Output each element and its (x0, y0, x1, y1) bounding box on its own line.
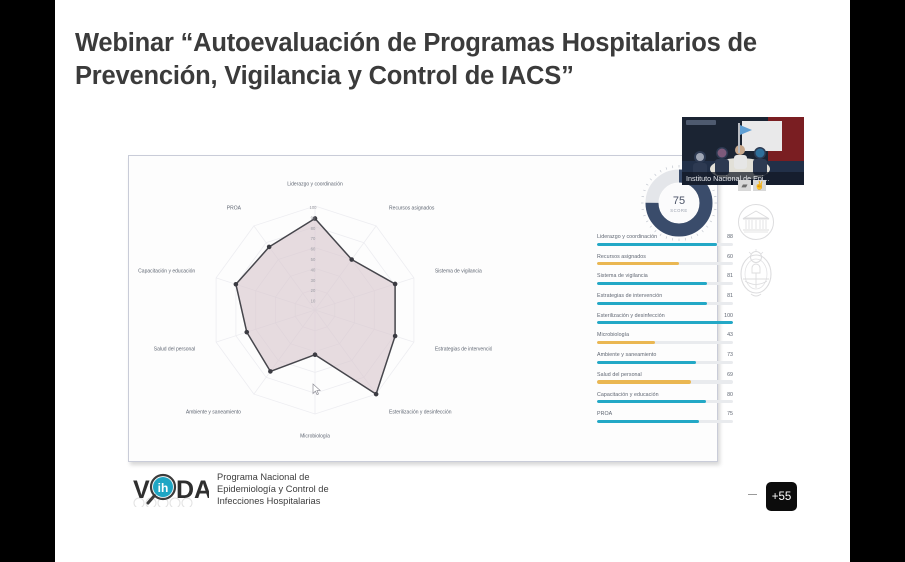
radar-data-point (313, 352, 318, 357)
score-row: PROA75 (597, 411, 733, 423)
gauge-value: 75 (673, 195, 685, 207)
score-progress-track (597, 321, 733, 324)
score-progress-track (597, 341, 733, 344)
radar-axis-label: Estrategias de intervención (435, 347, 492, 353)
score-row-header: Microbiología43 (597, 332, 733, 338)
radar-axis-label: PROA (227, 206, 242, 212)
overflow-participants-badge[interactable]: +55 (766, 482, 797, 511)
radar-data-point (268, 369, 273, 374)
presentation-slide: Webinar “Autoevaluación de Programas Hos… (55, 0, 850, 562)
svg-text:DA: DA (176, 476, 209, 504)
radar-tick-label: 40 (311, 267, 316, 272)
score-progress-fill (597, 361, 696, 364)
page-title: Webinar “Autoevaluación de Programas Hos… (75, 27, 820, 93)
score-progress-fill (597, 282, 707, 285)
radar-tick-label: 70 (311, 236, 316, 241)
score-list: Liderazgo y coordinación88Recursos asign… (597, 234, 733, 431)
score-label: Salud del personal (597, 372, 642, 378)
score-row: Recursos asignados60 (597, 254, 733, 266)
score-label: Sistema de vigilancia (597, 273, 648, 279)
score-progress-track (597, 243, 733, 246)
score-value: 73 (727, 352, 733, 358)
score-progress-fill (597, 420, 699, 423)
score-progress-track (597, 282, 733, 285)
score-row: Microbiología43 (597, 332, 733, 344)
score-label: PROA (597, 411, 612, 417)
score-row: Ambiente y saneamiento73 (597, 352, 733, 364)
score-progress-track (597, 380, 733, 383)
screen-share-icon[interactable]: ▰ (738, 180, 751, 191)
score-value: 81 (727, 293, 733, 299)
svg-text:ih: ih (158, 481, 169, 495)
dashboard-card: 100908070605040302010 Liderazgo y coordi… (128, 155, 718, 462)
score-progress-fill (597, 243, 717, 246)
radar-series-polygon (236, 219, 395, 395)
score-row-header: Esterilización y desinfección100 (597, 313, 733, 319)
score-row-header: Salud del personal69 (597, 372, 733, 378)
radar-data-point (244, 330, 249, 335)
radar-data-point (393, 282, 398, 287)
score-row-header: Recursos asignados60 (597, 254, 733, 260)
score-row-header: Ambiente y saneamiento73 (597, 352, 733, 358)
radar-axis-label: Sistema de vigilancia (435, 269, 482, 275)
score-row: Estrategias de intervención81 (597, 293, 733, 305)
radar-axis-label: Salud del personal (154, 347, 195, 353)
score-progress-fill (597, 400, 706, 403)
gauge-caption: SCORE (670, 208, 687, 213)
score-label: Recursos asignados (597, 254, 646, 260)
footer-line-2: Epidemiología y Control de (217, 484, 329, 496)
score-value: 75 (727, 411, 733, 417)
score-progress-fill (597, 262, 679, 265)
radar-data-point (374, 392, 379, 397)
radar-data-point (349, 257, 354, 262)
score-row: Sistema de vigilancia81 (597, 273, 733, 285)
score-progress-track (597, 420, 733, 423)
vihda-logo-icon: V DA ih (133, 473, 209, 507)
radar-data-point (234, 282, 239, 287)
footer-line-1: Programa Nacional de (217, 472, 329, 484)
footer-logo: V DA ih Programa Nacional de (133, 472, 329, 508)
score-value: 81 (727, 273, 733, 279)
score-row: Esterilización y desinfección100 (597, 313, 733, 325)
radar-tick-label: 20 (311, 288, 316, 293)
score-row: Salud del personal69 (597, 372, 733, 384)
score-progress-fill (597, 302, 707, 305)
radar-axis-label: Ambiente y saneamiento (186, 410, 241, 416)
radar-axis-label: Microbiología (300, 434, 330, 440)
radar-svg: 100908070605040302010 Liderazgo y coordi… (137, 162, 492, 457)
score-progress-track (597, 361, 733, 364)
score-value: 80 (727, 392, 733, 398)
ministry-building-emblem (737, 203, 775, 246)
score-row: Liderazgo y coordinación88 (597, 234, 733, 246)
radar-tick-label: 30 (311, 278, 316, 283)
score-label: Liderazgo y coordinación (597, 234, 657, 240)
score-label: Esterilización y desinfección (597, 313, 665, 319)
radar-tick-label: 10 (311, 299, 316, 304)
radar-tick-label: 60 (311, 247, 316, 252)
score-row-header: Estrategias de intervención81 (597, 293, 733, 299)
radar-tick-label: 100 (310, 205, 318, 210)
score-progress-fill (597, 341, 655, 344)
radar-tick-label: 80 (311, 226, 316, 231)
radar-data-point (267, 245, 272, 250)
score-row-header: Capacitación y educación80 (597, 392, 733, 398)
footer-logo-text: Programa Nacional de Epidemiología y Con… (217, 472, 329, 508)
radar-axis-label: Capacitación y educación (138, 269, 195, 275)
score-value: 100 (724, 313, 733, 319)
reaction-icon[interactable]: ✌ (753, 180, 766, 191)
score-row-header: PROA75 (597, 411, 733, 417)
score-progress-track (597, 302, 733, 305)
radar-axis-label: Esterilización y desinfección (389, 410, 452, 416)
radar-axis-label: Liderazgo y coordinación (287, 182, 343, 188)
score-row-header: Liderazgo y coordinación88 (597, 234, 733, 240)
score-progress-fill (597, 380, 691, 383)
score-value: 43 (727, 332, 733, 338)
video-label-chip (686, 120, 716, 125)
score-label: Microbiología (597, 332, 629, 338)
video-participant-tile[interactable]: Instituto Nacional de Epi... (682, 117, 804, 185)
score-progress-fill (597, 321, 733, 324)
argentina-coat-of-arms-emblem (735, 248, 777, 305)
score-row: Capacitación y educación80 (597, 392, 733, 404)
score-value: 60 (727, 254, 733, 260)
radar-data-point (393, 334, 398, 339)
score-value: 88 (727, 234, 733, 240)
score-value: 69 (727, 372, 733, 378)
footer-line-3: Infecciones Hospitalarias (217, 496, 329, 508)
score-label: Ambiente y saneamiento (597, 352, 656, 358)
screen: Webinar “Autoevaluación de Programas Hos… (0, 0, 905, 562)
collapse-dash-icon (748, 494, 757, 495)
radar-tick-label: 50 (311, 257, 316, 262)
radar-tick-label: 90 (311, 215, 316, 220)
score-progress-track (597, 262, 733, 265)
score-label: Estrategias de intervención (597, 293, 662, 299)
video-control-icons[interactable]: ▰ ✌ (738, 180, 766, 191)
radar-chart: 100908070605040302010 Liderazgo y coordi… (137, 162, 492, 457)
score-row-header: Sistema de vigilancia81 (597, 273, 733, 279)
score-progress-track (597, 400, 733, 403)
radar-axis-label: Recursos asignados (389, 206, 435, 212)
score-label: Capacitación y educación (597, 392, 659, 398)
